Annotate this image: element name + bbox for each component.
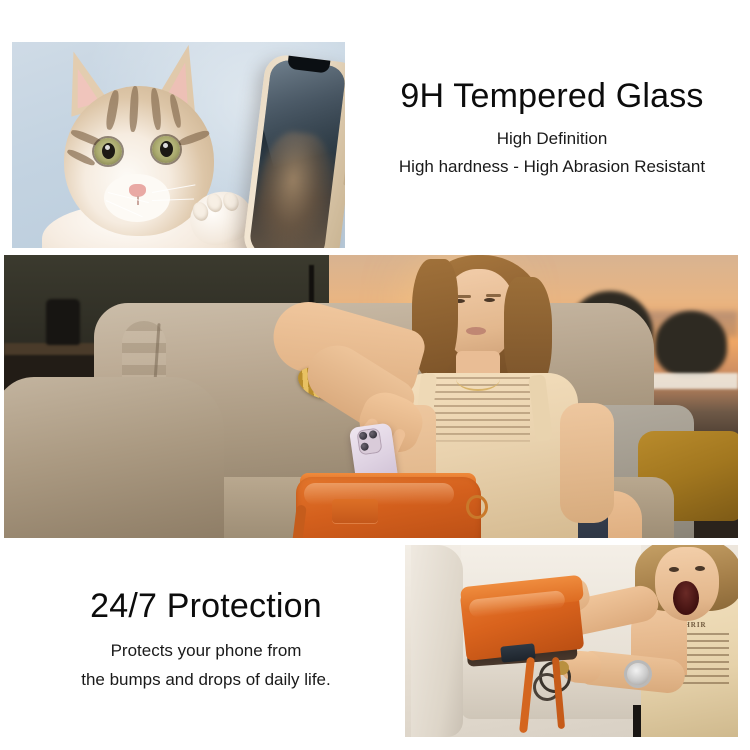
woman-arm-right — [560, 403, 614, 523]
glass-heading: 9H Tempered Glass — [356, 78, 748, 115]
glass-subline-2: High hardness - High Abrasion Resistant — [356, 157, 748, 177]
bag-front-pocket — [332, 499, 378, 523]
protection-subline-2: the bumps and drops of daily life. — [18, 670, 394, 690]
cat-pupil-left — [102, 143, 115, 159]
camera-lens — [359, 431, 368, 440]
woman-brow-right — [486, 294, 501, 297]
feature-text-protection: 24/7 Protection Protects your phone from… — [18, 588, 394, 690]
necklace — [456, 367, 500, 391]
cat-eye-left — [94, 138, 122, 165]
phone-side-button — [343, 142, 345, 186]
phone-screen — [248, 59, 345, 248]
woman-eye-left — [669, 567, 679, 572]
bag-highlight — [304, 483, 454, 505]
photo-woman-phone-into-bag — [4, 255, 738, 538]
woman-lips — [466, 327, 486, 335]
tree-silhouette — [655, 311, 727, 377]
woman-brow-left — [456, 295, 471, 298]
woman-open-mouth — [673, 581, 699, 615]
bag-hardware-ring — [466, 495, 488, 519]
woman-eye-right — [484, 298, 495, 302]
room-vase — [46, 299, 80, 345]
cat-pupil-right — [160, 141, 173, 157]
camera-lens — [360, 442, 369, 451]
photo-bag-contents-spilling: TEHRIR — [405, 545, 738, 737]
phone-camera-module — [356, 428, 382, 456]
woman-eye-right — [695, 566, 705, 571]
protection-subline-1: Protects your phone from — [18, 641, 394, 661]
sofa-armrest — [4, 377, 224, 538]
photo-cat-with-phone — [12, 42, 345, 248]
product-infographic: 9H Tempered Glass High Definition High h… — [0, 0, 750, 750]
cat-eye-right — [152, 136, 180, 163]
camera-lens — [369, 430, 378, 439]
protection-heading: 24/7 Protection — [18, 588, 394, 625]
glass-subline-1: High Definition — [356, 129, 748, 149]
feature-text-glass: 9H Tempered Glass High Definition High h… — [356, 78, 748, 177]
sofa-armrest — [411, 545, 463, 737]
